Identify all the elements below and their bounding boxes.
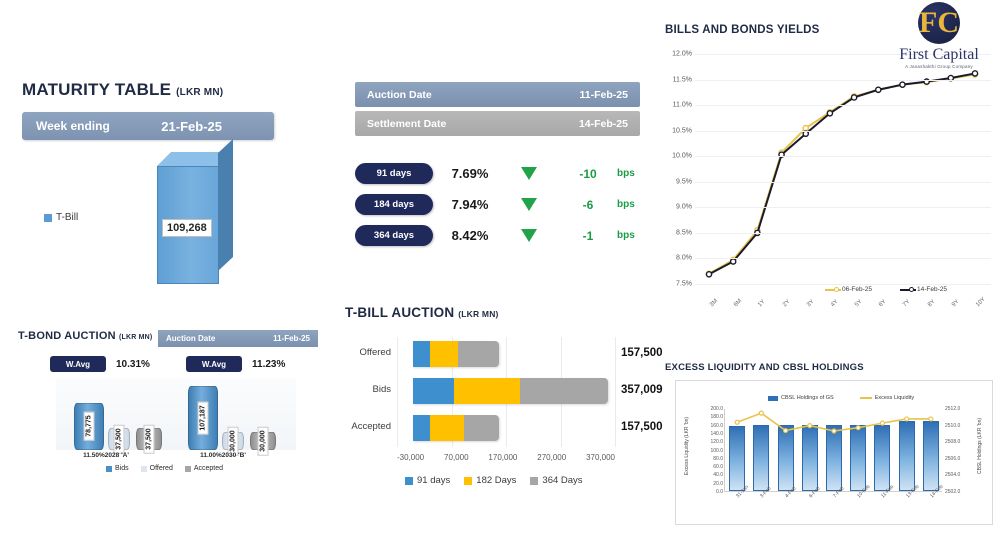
tbond-auction-date-label: Auction Date xyxy=(166,334,273,343)
tbill-bar-segment xyxy=(413,415,429,441)
tbond-cylinder: 37,500 xyxy=(136,428,162,451)
tbill-total-label: 357,009 xyxy=(621,384,663,396)
yields-ytick: 10.5% xyxy=(672,127,692,134)
tbond-category-b: 11.00%2030 'B' xyxy=(173,452,273,459)
liquidity-ytick-right: 2502.0 xyxy=(945,489,960,495)
maturity-table-panel: MATURITY TABLE (LKR MN) Week ending 21-F… xyxy=(22,80,322,300)
legend-label-364: 364 Days xyxy=(542,475,582,486)
liquidity-ytick-left: 160.0 xyxy=(710,423,723,429)
bps-unit-364: bps xyxy=(617,230,635,241)
liquidity-ytick-left: 200.0 xyxy=(710,406,723,412)
arrow-down-icon xyxy=(521,198,537,211)
legend-item-182: 182 Days xyxy=(464,475,516,486)
tbill-category-label: Accepted xyxy=(351,421,391,432)
week-ending-value: 21-Feb-25 xyxy=(161,119,260,134)
company-tagline: A Janashakthi Group Company xyxy=(886,64,992,69)
rate-value-91: 7.69% xyxy=(433,166,507,181)
liquidity-marker xyxy=(759,411,763,415)
bps-change-184: -6 xyxy=(559,198,617,212)
yields-xtick: 3Y xyxy=(806,299,815,308)
liquidity-ylabel-right: CBSL Holdings (LKR 'bn) xyxy=(977,418,983,474)
bps-unit-91: bps xyxy=(617,168,635,179)
wavg-pill-b: W.Avg xyxy=(186,356,242,372)
tbond-legend: Bids Offered Accepted xyxy=(106,465,223,472)
legend-swatch-364 xyxy=(530,477,538,485)
tbond-category-a: 11.50%2028 'A' xyxy=(56,452,156,459)
yields-ytick: 9.5% xyxy=(676,178,692,185)
tbill-total-label: 157,500 xyxy=(621,421,663,433)
gridline xyxy=(695,284,991,285)
bps-unit-184: bps xyxy=(617,199,635,210)
tbill-bar-segment xyxy=(430,415,464,441)
liquidity-ytick-left: 80.0 xyxy=(713,456,723,462)
gridline xyxy=(695,131,991,132)
auction-date-row: Auction Date 11-Feb-25 xyxy=(355,82,640,107)
liquidity-ytick-left: 0.0 xyxy=(716,489,723,495)
gridline xyxy=(695,258,991,259)
bps-change-364: -1 xyxy=(559,229,617,243)
gridline xyxy=(695,182,991,183)
tbill-xtick: 270,000 xyxy=(537,453,566,462)
tbill-bar-segment xyxy=(520,378,608,404)
yields-marker xyxy=(900,82,905,87)
yields-ytick: 10.0% xyxy=(672,153,692,160)
cylinder-body: 30,000 xyxy=(222,432,244,450)
liquidity-ytick-right: 2508.0 xyxy=(945,439,960,445)
legend-swatch-bids xyxy=(106,466,112,472)
tbill-xaxis: -30,000 70,000 170,000 270,000 370,000 xyxy=(397,453,615,462)
tbill-title: T-BILL AUCTION (LKR MN) xyxy=(345,305,665,320)
yields-panel: BILLS AND BONDS YIELDS 06-Feb-25 14-Feb-… xyxy=(665,24,995,334)
yields-xtick: 6M xyxy=(733,298,743,308)
legend-label-offered: Offered xyxy=(150,465,173,472)
rate-value-184: 7.94% xyxy=(433,197,507,212)
tbill-auction-panel: T-BILL AUCTION (LKR MN) Offered157,500Bi… xyxy=(345,305,665,505)
legend-item-bids: Bids xyxy=(106,465,129,472)
liquidity-ytick-left: 60.0 xyxy=(713,464,723,470)
gridline xyxy=(695,233,991,234)
legend-item-91: 91 days xyxy=(405,475,450,486)
rate-row: 184 days 7.94% -6 bps xyxy=(355,189,655,220)
bps-change-91: -10 xyxy=(559,167,617,181)
maturity-legend: T-Bill xyxy=(44,212,78,223)
company-logo: FC First Capital A Janashakthi Group Com… xyxy=(886,2,992,69)
tbill-xtick: 70,000 xyxy=(444,453,468,462)
tbill-bar-row: Bids357,009 xyxy=(397,378,615,404)
tbill-stacked-bar xyxy=(413,378,608,404)
yields-marker xyxy=(972,71,977,76)
liquidity-ytick-left: 40.0 xyxy=(713,472,723,478)
gridline xyxy=(695,105,991,106)
yields-ytick: 8.5% xyxy=(676,229,692,236)
company-name: First Capital xyxy=(886,46,992,64)
cylinder-body: 37,500 xyxy=(136,428,162,451)
tbond-unit: (LKR MN) xyxy=(119,334,152,341)
liquidity-marker xyxy=(929,417,933,421)
rate-value-364: 8.42% xyxy=(433,228,507,243)
settlement-date-label: Settlement Date xyxy=(367,118,579,130)
wavg-pill-a: W.Avg xyxy=(50,356,106,372)
arrow-down-icon xyxy=(521,167,537,180)
legend-item-curr: 14-Feb-25 xyxy=(900,286,947,293)
cylinder-body: 78,775 xyxy=(74,403,104,450)
maturity-title: MATURITY TABLE (LKR MN) xyxy=(22,80,322,100)
liquidity-ytick-right: 2504.0 xyxy=(945,472,960,478)
tbond-title-text: T-BOND AUCTION xyxy=(18,330,116,342)
auction-summary-panel: Auction Date 11-Feb-25 Settlement Date 1… xyxy=(355,82,655,251)
legend-label-182: 182 Days xyxy=(476,475,516,486)
legend-swatch-182 xyxy=(464,477,472,485)
gridline xyxy=(695,156,991,157)
yields-xtick: 3M xyxy=(709,298,719,308)
settlement-date-value: 14-Feb-25 xyxy=(579,118,628,130)
wavg-group-a: W.Avg 10.31% xyxy=(50,356,150,372)
yields-xtick: 6Y xyxy=(878,299,887,308)
week-ending-bar: Week ending 21-Feb-25 xyxy=(22,112,274,140)
liquidity-plot: 0.020.040.060.080.0100.0120.0140.0160.01… xyxy=(724,409,942,492)
yields-ytick: 12.0% xyxy=(672,51,692,58)
liquidity-ytick-right: 2506.0 xyxy=(945,456,960,462)
liquidity-panel: EXCESS LIQUIDITY AND CBSL HOLDINGS CBSL … xyxy=(665,362,997,532)
week-ending-label: Week ending xyxy=(36,119,161,133)
tbond-cylinder: 30,000 xyxy=(250,432,276,450)
maturity-unit: (LKR MN) xyxy=(176,87,223,98)
yields-ytick: 9.0% xyxy=(676,204,692,211)
liquidity-ytick-right: 2512.0 xyxy=(945,406,960,412)
yields-marker xyxy=(803,131,808,136)
tbond-cylinder: 78,775 xyxy=(74,403,104,450)
legend-label-cbsl: CBSL Holdings of GS xyxy=(781,395,834,401)
tbond-cylinder: 37,500 xyxy=(108,428,130,451)
legend-item-excess: Excess Liquidity xyxy=(860,395,914,401)
tbond-value-label: 107,187 xyxy=(198,401,209,434)
settlement-date-row: Settlement Date 14-Feb-25 xyxy=(355,111,640,136)
liquidity-marker xyxy=(808,424,812,428)
tbill-bar-segment xyxy=(464,415,499,441)
legend-label-excess: Excess Liquidity xyxy=(875,395,914,401)
tbill-bar-segment xyxy=(430,341,459,367)
tbond-value-label: 78,775 xyxy=(84,412,95,441)
tbond-chart: 78,77537,50037,500107,18730,00030,000 xyxy=(56,378,296,450)
tbill-category-label: Bids xyxy=(373,384,391,395)
legend-item-prev: 06-Feb-25 xyxy=(825,286,872,293)
tbill-bar-row: Offered157,500 xyxy=(397,341,615,367)
liquidity-marker xyxy=(784,429,788,433)
yields-ytick: 11.5% xyxy=(673,76,692,83)
legend-swatch-accepted xyxy=(185,466,191,472)
tbill-xtick: 370,000 xyxy=(586,453,615,462)
tbill-bar-segment xyxy=(454,378,519,404)
yields-chart: 06-Feb-25 14-Feb-25 7.5%8.0%8.5%9.0%9.5%… xyxy=(695,54,991,302)
cylinder-body: 30,000 xyxy=(250,432,276,450)
legend-swatch-cbsl xyxy=(768,396,778,401)
arrow-down-icon xyxy=(521,229,537,242)
rate-rows: 91 days 7.69% -10 bps 184 days 7.94% -6 … xyxy=(355,158,655,251)
tbill-legend: 91 days 182 Days 364 Days xyxy=(405,475,583,486)
legend-label-prev: 06-Feb-25 xyxy=(842,286,872,293)
tenor-pill-91: 91 days xyxy=(355,163,433,184)
legend-label-bids: Bids xyxy=(115,465,129,472)
legend-label-accepted: Accepted xyxy=(194,465,223,472)
gridline xyxy=(695,207,991,208)
liquidity-ytick-left: 140.0 xyxy=(710,431,723,437)
tbond-value-label: 37,500 xyxy=(114,424,125,453)
tenor-pill-184: 184 days xyxy=(355,194,433,215)
column-front-face: 109,268 xyxy=(157,166,219,284)
liquidity-ylabel-left: Excess Liquidity (LKR 'bn) xyxy=(684,417,690,475)
tbill-xtick: -30,000 xyxy=(397,453,424,462)
cylinder-body: 107,187 xyxy=(188,386,218,450)
tbill-gridline xyxy=(615,337,616,447)
tbill-total-label: 157,500 xyxy=(621,347,663,359)
legend-dot-curr xyxy=(909,287,914,292)
legend-item-offered: Offered xyxy=(141,465,173,472)
tbill-bar-segment xyxy=(413,341,429,367)
yields-xtick: 1Y xyxy=(757,299,766,308)
liquidity-ytick-right: 2510.0 xyxy=(945,423,960,429)
tbond-cylinder: 30,000 xyxy=(222,432,244,450)
liquidity-marker xyxy=(856,426,860,430)
legend-item-364: 364 Days xyxy=(530,475,582,486)
legend-item-cbsl: CBSL Holdings of GS xyxy=(768,395,834,401)
tbill-legend-label: T-Bill xyxy=(56,212,78,223)
yields-ytick: 11.0% xyxy=(673,102,692,109)
tbill-bar-segment xyxy=(413,378,454,404)
wavg-value-a: 10.31% xyxy=(116,359,150,370)
yields-xtick: 5Y xyxy=(854,299,863,308)
liquidity-chart-box: CBSL Holdings of GS Excess Liquidity Exc… xyxy=(675,380,993,525)
yields-xtick: 9Y xyxy=(951,299,960,308)
monogram-text: FC xyxy=(919,8,959,38)
liquidity-ytick-left: 180.0 xyxy=(710,414,723,420)
tbill-bar-row: Accepted157,500 xyxy=(397,415,615,441)
column-side-face xyxy=(218,139,233,271)
tbill-legend-swatch xyxy=(44,214,52,222)
tbill-value-label: 109,268 xyxy=(162,219,212,237)
yields-svg xyxy=(695,54,991,284)
liquidity-marker xyxy=(905,417,909,421)
auction-date-value: 11-Feb-25 xyxy=(580,89,628,101)
liquidity-marker xyxy=(735,420,739,424)
legend-line-excess xyxy=(860,397,872,399)
tbill-chart: Offered157,500Bids357,009Accepted157,500 xyxy=(397,337,615,447)
yields-xtick: 7Y xyxy=(902,299,911,308)
tbill-stacked-bar xyxy=(413,415,499,441)
liquidity-marker xyxy=(832,429,836,433)
legend-dot-prev xyxy=(834,287,839,292)
legend-label-91: 91 days xyxy=(417,475,450,486)
legend-item-accepted: Accepted xyxy=(185,465,223,472)
liquidity-line-svg xyxy=(725,409,943,492)
yields-ytick: 8.0% xyxy=(676,255,692,262)
legend-swatch-91 xyxy=(405,477,413,485)
tenor-pill-364: 364 days xyxy=(355,225,433,246)
tbond-cylinder: 107,187 xyxy=(188,386,218,450)
tbill-title-text: T-BILL AUCTION xyxy=(345,305,454,320)
tbill-stacked-bar xyxy=(413,341,499,367)
column-top-face xyxy=(157,152,219,166)
tbond-auction-date-bar: Auction Date 11-Feb-25 xyxy=(158,330,318,347)
yields-marker xyxy=(827,111,832,116)
cylinder-body: 37,500 xyxy=(108,428,130,451)
first-capital-monogram-icon: FC xyxy=(918,2,960,44)
yields-xtick: 2Y xyxy=(782,299,791,308)
wavg-group-b: W.Avg 11.23% xyxy=(186,356,285,372)
yields-xtick: 4Y xyxy=(830,299,839,308)
liquidity-ytick-left: 20.0 xyxy=(713,481,723,487)
yields-marker xyxy=(731,259,736,264)
yields-ytick: 7.5% xyxy=(676,281,692,288)
tbill-3d-column: 109,268 xyxy=(157,152,219,284)
yields-marker xyxy=(876,87,881,92)
maturity-chart: T-Bill 109,268 xyxy=(22,150,322,300)
tbill-xtick: 170,000 xyxy=(488,453,517,462)
tbond-auction-date-value: 11-Feb-25 xyxy=(273,334,310,343)
liquidity-title: EXCESS LIQUIDITY AND CBSL HOLDINGS xyxy=(665,362,997,373)
liquidity-marker xyxy=(880,421,884,425)
tbond-auction-panel: T-BOND AUCTION (LKR MN) Auction Date 11-… xyxy=(18,330,318,480)
liquidity-line xyxy=(737,413,931,431)
yields-legend: 06-Feb-25 14-Feb-25 xyxy=(825,286,947,293)
tbill-category-label: Offered xyxy=(359,347,391,358)
yields-xtick: 10Y xyxy=(975,296,987,308)
yields-marker xyxy=(851,95,856,100)
rate-row: 91 days 7.69% -10 bps xyxy=(355,158,655,189)
gridline xyxy=(695,80,991,81)
tbill-unit: (LKR MN) xyxy=(458,309,498,319)
tbill-bar-segment xyxy=(458,341,499,367)
legend-swatch-offered xyxy=(141,466,147,472)
liquidity-legend: CBSL Holdings of GS Excess Liquidity xyxy=(768,395,914,401)
yields-marker xyxy=(706,272,711,277)
wavg-value-b: 11.23% xyxy=(252,359,285,370)
yields-xtick: 8Y xyxy=(927,299,936,308)
maturity-title-text: MATURITY TABLE xyxy=(22,80,171,99)
rate-row: 364 days 8.42% -1 bps xyxy=(355,220,655,251)
legend-label-curr: 14-Feb-25 xyxy=(917,286,947,293)
liquidity-ytick-left: 120.0 xyxy=(710,439,723,445)
tbond-value-label: 37,500 xyxy=(144,424,155,453)
auction-date-label: Auction Date xyxy=(367,89,580,101)
liquidity-ytick-left: 100.0 xyxy=(710,448,723,454)
